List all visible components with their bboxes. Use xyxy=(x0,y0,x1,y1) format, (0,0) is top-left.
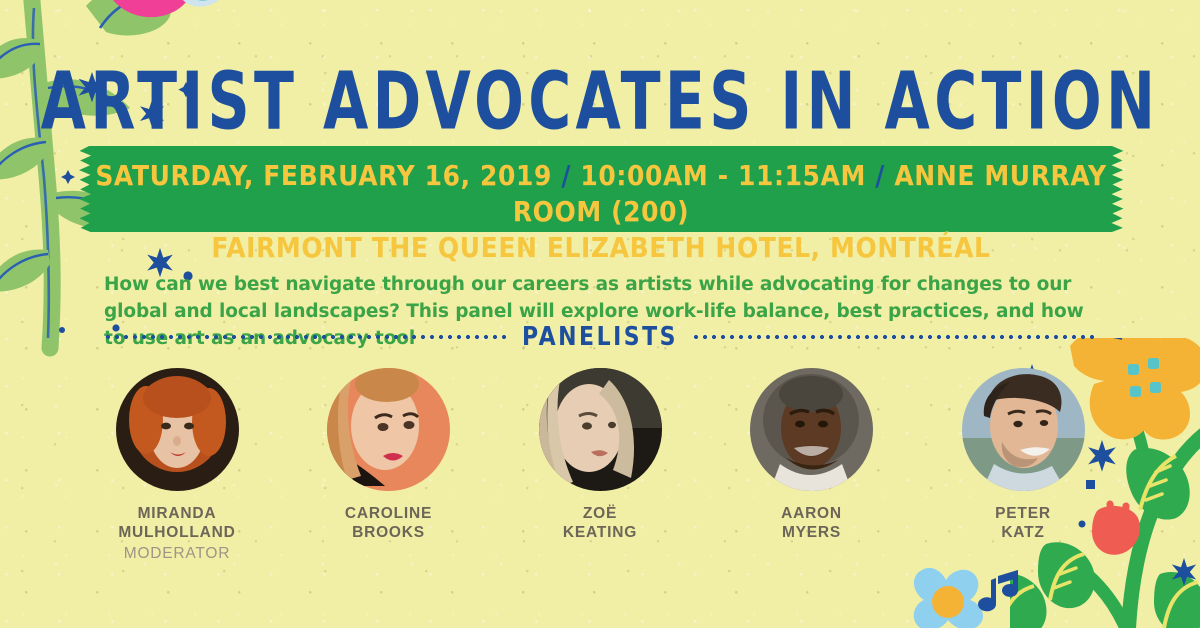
banner-text: SATURDAY, FEBRUARY 16, 2019 / 10:00AM - … xyxy=(78,146,1124,266)
avatar xyxy=(750,368,873,491)
page-title: ARTIST ADVOCATES IN ACTION xyxy=(24,62,1176,141)
separator-1: / xyxy=(561,159,571,191)
avatar xyxy=(116,368,239,491)
avatar xyxy=(962,368,1085,491)
panelist-last-name: KATZ xyxy=(928,524,1118,543)
dotted-rule-right xyxy=(692,327,1096,347)
panelist-first-name: CAROLINE xyxy=(294,505,484,524)
dotted-rule-left xyxy=(104,327,508,347)
panelist-last-name: BROOKS xyxy=(294,524,484,543)
separator-2: / xyxy=(875,159,885,191)
banner-line-1: SATURDAY, FEBRUARY 16, 2019 / 10:00AM - … xyxy=(78,158,1124,230)
banner-line-2: FAIRMONT THE QUEEN ELIZABETH HOTEL, MONT… xyxy=(78,230,1124,266)
blue-flower-and-music-note-decoration xyxy=(866,566,1036,628)
avatar xyxy=(327,368,450,491)
panelist-card: ZOË KEATING xyxy=(505,368,695,544)
portrait-miranda-mulholland xyxy=(116,368,239,491)
panelist-last-name: MYERS xyxy=(717,524,907,543)
panelist-first-name: AARON xyxy=(717,505,907,524)
title-block: ARTIST ADVOCATES IN ACTION xyxy=(0,62,1200,123)
avatar xyxy=(539,368,662,491)
event-venue: FAIRMONT THE QUEEN ELIZABETH HOTEL, MONT… xyxy=(211,231,990,263)
panelist-role: MODERATOR xyxy=(82,544,272,563)
panelist-first-name: PETER xyxy=(928,505,1118,524)
panelists-divider: PANELISTS xyxy=(104,322,1096,352)
panelist-last-name: MULHOLLAND xyxy=(82,524,272,543)
portrait-peter-katz xyxy=(962,368,1085,491)
panelist-card: AARON MYERS xyxy=(717,368,907,544)
portrait-aaron-myers xyxy=(750,368,873,491)
event-date: SATURDAY, FEBRUARY 16, 2019 xyxy=(95,159,552,191)
event-time: 10:00AM - 11:15AM xyxy=(580,159,866,191)
panelists-row: MIRANDA MULHOLLAND MODERATOR xyxy=(82,368,1118,563)
panelist-card: CAROLINE BROOKS xyxy=(294,368,484,544)
portrait-caroline-brooks xyxy=(327,368,450,491)
panelist-card: MIRANDA MULHOLLAND MODERATOR xyxy=(82,368,272,563)
event-details-banner: SATURDAY, FEBRUARY 16, 2019 / 10:00AM - … xyxy=(78,146,1124,232)
panelists-heading: PANELISTS xyxy=(522,322,678,352)
portrait-zoe-keating xyxy=(539,368,662,491)
poster-canvas: ARTIST ADVOCATES IN ACTION SATURDAY, FEB… xyxy=(0,0,1200,628)
panelist-last-name: KEATING xyxy=(505,524,695,543)
panelist-card: PETER KATZ xyxy=(928,368,1118,544)
pink-flower-decoration xyxy=(96,0,226,55)
panelist-first-name: MIRANDA xyxy=(82,505,272,524)
panelist-first-name: ZOË xyxy=(505,505,695,524)
